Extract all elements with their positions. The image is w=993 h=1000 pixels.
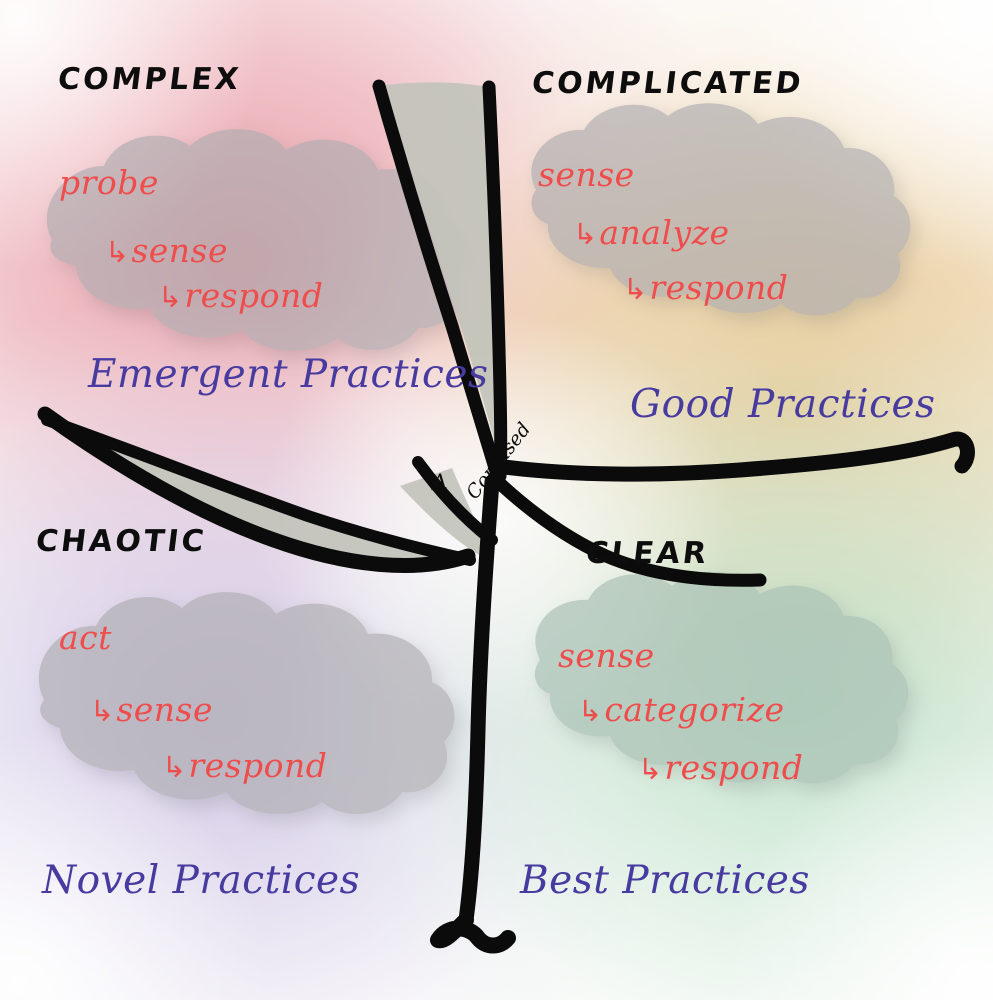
complicated-thought-blob	[531, 103, 910, 315]
cynefin-diagram-canvas: COMPLEX probe ↳sense ↳respond Emergent P…	[0, 0, 993, 1000]
bottom-tail-squiggle-stroke	[438, 920, 508, 946]
chaotic-thought-blob	[39, 592, 455, 814]
confused-diagonal-stroke	[494, 478, 760, 580]
diagram-artwork	[0, 0, 993, 1000]
right-horizontal-divider-stroke	[497, 439, 967, 474]
clear-thought-blob	[535, 572, 908, 784]
